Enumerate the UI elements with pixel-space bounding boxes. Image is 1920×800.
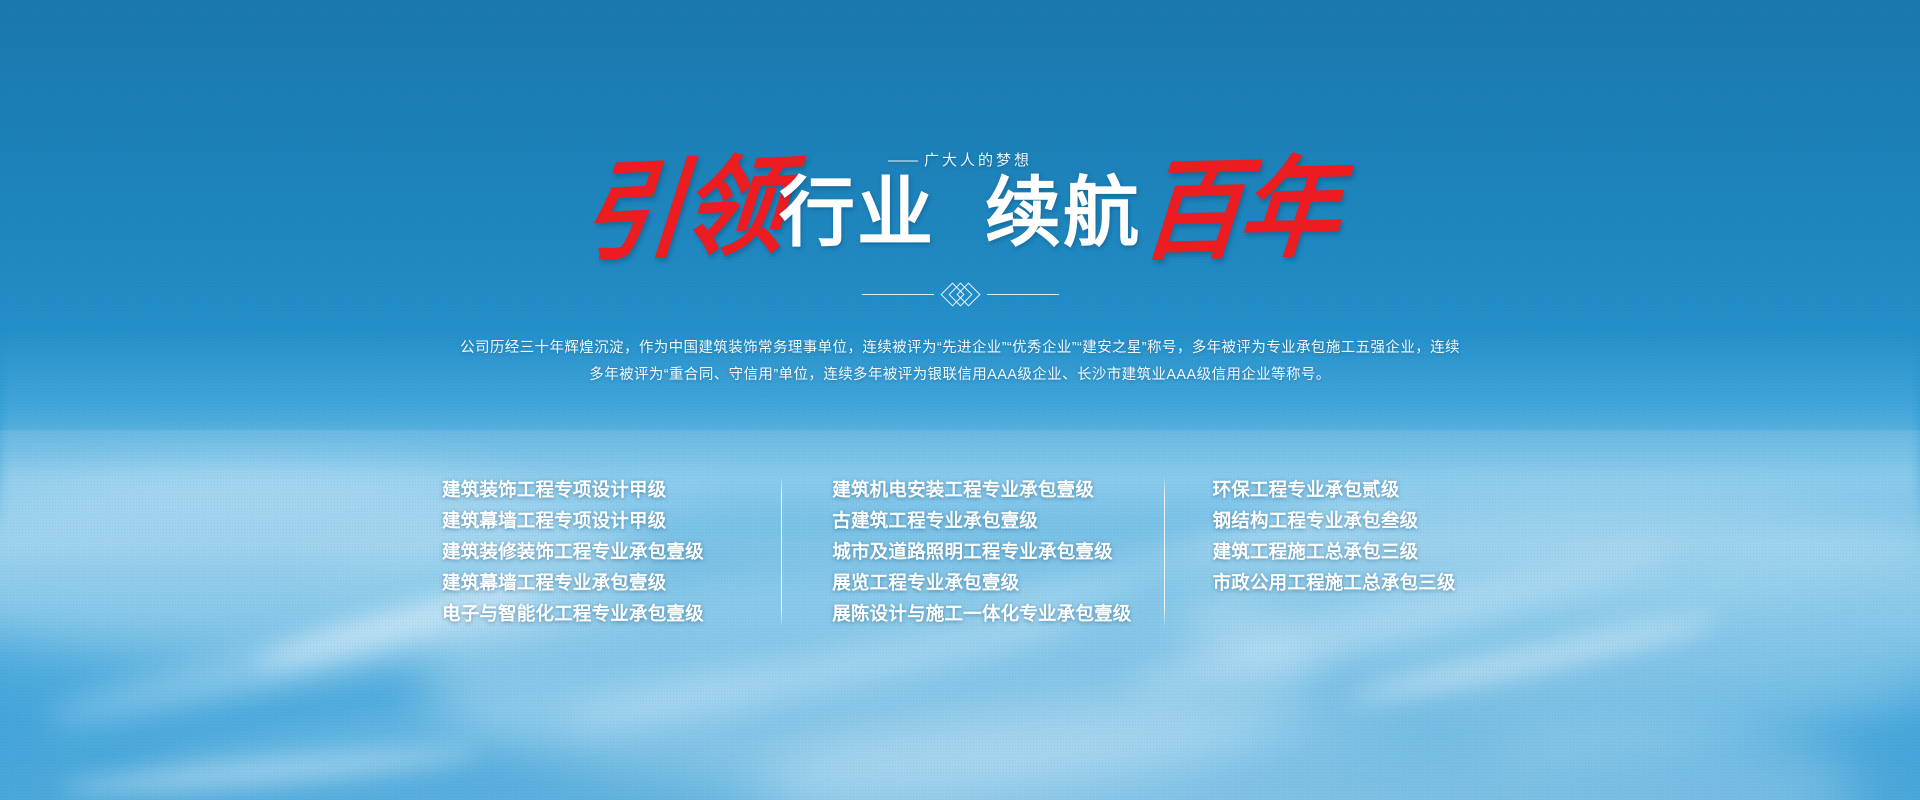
qualification-item[interactable]: 建筑工程施工总承包三级 xyxy=(1213,536,1490,567)
divider-diamonds xyxy=(944,286,977,303)
headline-part-endure-white: 续航 xyxy=(983,176,1143,252)
divider-line-right xyxy=(987,294,1059,295)
qualification-column-1: 建筑装饰工程专项设计甲级 建筑幕墙工程专项设计甲级 建筑装修装饰工程专业承包壹级… xyxy=(430,474,781,629)
hero-description: 公司历经三十年辉煌沉淀，作为中国建筑装饰常务理事单位，连续被评为“先进企业”“优… xyxy=(430,335,1490,389)
qualification-item[interactable]: 钢结构工程专业承包叁级 xyxy=(1213,505,1490,536)
qualification-item[interactable]: 展陈设计与施工一体化专业承包壹级 xyxy=(832,598,1163,629)
qualification-column-3: 环保工程专业承包贰级 钢结构工程专业承包叁级 建筑工程施工总承包三级 市政公用工… xyxy=(1165,474,1490,598)
diamond-icon xyxy=(956,282,980,306)
qualification-item[interactable]: 建筑幕墙工程专业承包壹级 xyxy=(442,567,781,598)
qualification-item[interactable]: 电子与智能化工程专业承包壹级 xyxy=(442,598,781,629)
qualification-item[interactable]: 建筑幕墙工程专项设计甲级 xyxy=(442,505,781,536)
headline-part-industry-white: 行业 xyxy=(777,176,937,252)
hero-headline: 引领行业续航百年 xyxy=(0,162,1920,258)
qualification-item[interactable]: 古建筑工程专业承包壹级 xyxy=(832,505,1163,536)
headline-part-lead-red: 引领 xyxy=(573,152,790,268)
description-line-2: 多年被评为“重合同、守信用”单位，连续多年被评为银联信用AAA级企业、长沙市建筑… xyxy=(430,362,1490,389)
qualification-item[interactable]: 建筑装修装饰工程专业承包壹级 xyxy=(442,536,781,567)
headline-part-century-red: 百年 xyxy=(1133,153,1344,267)
qualification-item[interactable]: 建筑装饰工程专项设计甲级 xyxy=(442,474,781,505)
diamond-icon xyxy=(940,282,964,306)
qualification-item[interactable]: 展览工程专业承包壹级 xyxy=(832,567,1163,598)
qualification-item[interactable]: 城市及道路照明工程专业承包壹级 xyxy=(832,536,1163,567)
qualification-item[interactable]: 市政公用工程施工总承包三级 xyxy=(1213,567,1490,598)
qualifications-list: 建筑装饰工程专项设计甲级 建筑幕墙工程专项设计甲级 建筑装修装饰工程专业承包壹级… xyxy=(430,474,1490,629)
divider-line-left xyxy=(862,294,934,295)
qualification-column-2: 建筑机电安装工程专业承包壹级 古建筑工程专业承包壹级 城市及道路照明工程专业承包… xyxy=(782,474,1163,629)
ornament-divider xyxy=(0,286,1920,303)
qualification-item[interactable]: 建筑机电安装工程专业承包壹级 xyxy=(832,474,1163,505)
description-line-1: 公司历经三十年辉煌沉淀，作为中国建筑装饰常务理事单位，连续被评为“先进企业”“优… xyxy=(430,335,1490,362)
qualification-item[interactable]: 环保工程专业承包贰级 xyxy=(1213,474,1490,505)
diamond-icon xyxy=(948,282,972,306)
hero-banner: ——广大人的梦想 引领行业续航百年 公司历经三十年辉煌沉淀，作为中国建筑装饰常务… xyxy=(0,0,1920,800)
